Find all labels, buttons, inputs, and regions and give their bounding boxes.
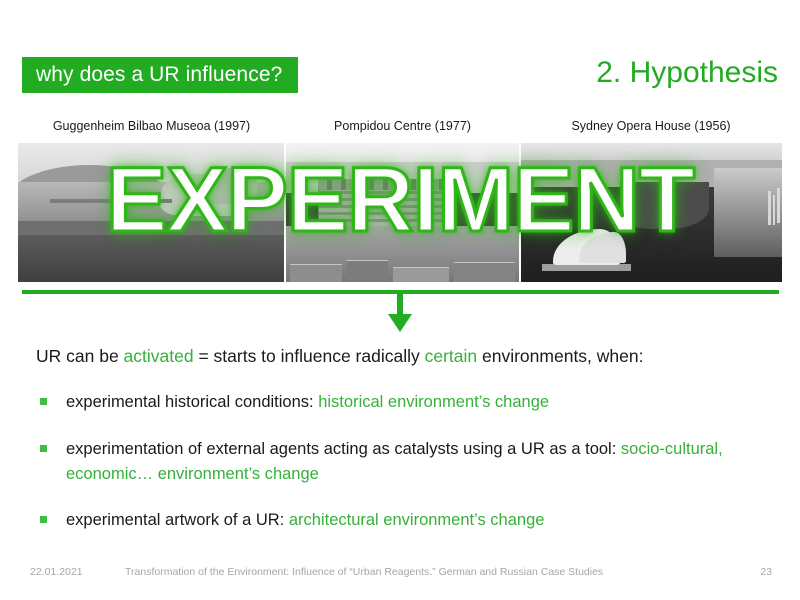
- photo-caption-pompidou: Pompidou Centre (1977): [285, 119, 520, 133]
- lede-highlight-certain: certain: [425, 346, 478, 366]
- photo-guggenheim-bilbao: [18, 143, 284, 282]
- bullet-list: experimental historical conditions: hist…: [36, 390, 756, 555]
- bullet-text: experimental historical conditions:: [66, 393, 318, 411]
- lede-part-2: = starts to influence radically: [194, 346, 425, 366]
- section-title: 2. Hypothesis: [596, 56, 778, 90]
- bullet-square-icon: [40, 398, 47, 405]
- bullet-highlight: historical environment’s change: [318, 393, 549, 411]
- photo-river: [18, 235, 284, 282]
- photo-building-block: [290, 264, 341, 282]
- photo-captions: Guggenheim Bilbao Museoa (1997) Pompidou…: [18, 119, 782, 141]
- photo-bridge: [50, 199, 172, 203]
- list-item: experimental artwork of a UR: architectu…: [36, 508, 756, 533]
- slide-title-banner: why does a UR influence?: [22, 57, 298, 93]
- bullet-text: experimental artwork of a UR:: [66, 511, 289, 529]
- photo-paris-rooftops: [286, 226, 520, 282]
- bullet-square-icon: [40, 445, 47, 452]
- lede-part-1: UR can be: [36, 346, 124, 366]
- footer-date: 22.01.2021: [30, 566, 83, 578]
- photo-sydney-opera-house: [519, 143, 782, 282]
- down-arrow-icon: [384, 292, 416, 334]
- list-item: experimentation of external agents actin…: [36, 437, 756, 487]
- photo-building-block: [346, 260, 388, 282]
- footer-page-number: 23: [760, 566, 772, 578]
- slide: why does a UR influence? 2. Hypothesis G…: [0, 0, 800, 600]
- slide-title-text: why does a UR influence?: [36, 63, 282, 87]
- photo-pompidou-centre: [284, 143, 520, 282]
- photo-tower: [773, 195, 776, 225]
- photo-caption-sydney: Sydney Opera House (1956): [520, 119, 782, 133]
- photo-building-block: [454, 262, 515, 282]
- photo-cbd-skyline: [714, 168, 782, 257]
- bullet-square-icon: [40, 516, 47, 523]
- bullet-text: experimentation of external agents actin…: [66, 440, 621, 458]
- lede-part-3: environments, when:: [477, 346, 643, 366]
- photo-building-block: [393, 267, 449, 282]
- photo-strip: [18, 143, 782, 282]
- lede-sentence: UR can be activated = starts to influenc…: [36, 346, 643, 367]
- photo-tower: [777, 188, 780, 224]
- lede-highlight-activated: activated: [124, 346, 194, 366]
- list-item: experimental historical conditions: hist…: [36, 390, 756, 415]
- photo-tower: [768, 191, 771, 225]
- photo-caption-guggenheim: Guggenheim Bilbao Museoa (1997): [18, 119, 285, 133]
- bullet-highlight: architectural environment’s change: [289, 511, 545, 529]
- photo-museum-form-secondary: [204, 168, 257, 204]
- photo-pompidou-tubes: [318, 179, 449, 190]
- footer-title: Transformation of the Environment: Influ…: [125, 566, 603, 578]
- photo-headland: [620, 182, 709, 229]
